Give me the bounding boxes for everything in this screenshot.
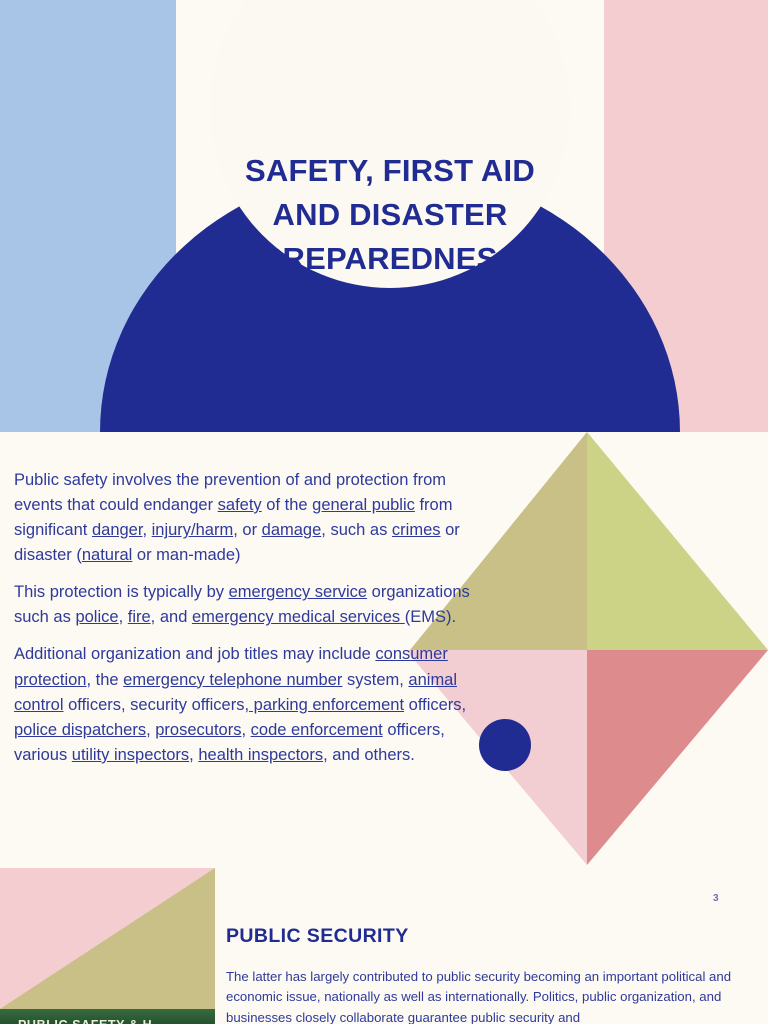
body-link[interactable]: emergency medical services <box>192 608 405 626</box>
body-link[interactable]: code enforcement <box>251 721 383 739</box>
page-number: 3 <box>713 893 719 904</box>
body-link[interactable]: danger <box>92 521 142 539</box>
body-slide: Public safety involves the prevention of… <box>0 432 768 865</box>
decorative-footer-band: PUBLIC SAFETY & H <box>0 1009 215 1024</box>
body-link[interactable]: health inspectors <box>198 746 323 764</box>
body-paragraph: Public safety involves the prevention of… <box>14 468 492 568</box>
decorative-square-split <box>0 868 215 1009</box>
public-security-slide: PUBLIC SAFETY & H PUBLIC SECURITY The la… <box>0 865 768 1024</box>
page-title-line-1: SAFETY, FIRST AID <box>245 153 535 188</box>
body-text-run: , <box>142 521 151 539</box>
body-paragraph: This protection is typically by emergenc… <box>14 580 492 630</box>
body-link[interactable]: utility inspectors <box>72 746 189 764</box>
body-text-run: This protection is typically by <box>14 583 229 601</box>
section-paragraph: The latter has largely contributed to pu… <box>226 967 754 1024</box>
body-text-run: , <box>119 608 128 626</box>
body-text-run: Additional organization and job titles m… <box>14 645 375 663</box>
hero-slide: SAFETY, FIRST AID AND DISASTER PREPAREDN… <box>0 0 768 432</box>
body-text-run: system, <box>342 671 408 689</box>
body-text-run: of the <box>262 496 312 514</box>
body-text-run: (EMS). <box>405 608 456 626</box>
body-text-run: , such as <box>321 521 392 539</box>
body-link[interactable]: emergency telephone number <box>123 671 342 689</box>
body-link[interactable]: emergency service <box>229 583 367 601</box>
body-link[interactable]: crimes <box>392 521 441 539</box>
body-text-run: or man-made) <box>132 546 240 564</box>
body-link[interactable]: prosecutors <box>155 721 241 739</box>
page-title: SAFETY, FIRST AID AND DISASTER PREPAREDN… <box>184 149 596 281</box>
body-text-block: Public safety involves the prevention of… <box>14 468 492 780</box>
body-link[interactable]: safety <box>218 496 262 514</box>
body-text-run: , or <box>233 521 261 539</box>
body-link[interactable]: injury/harm <box>152 521 234 539</box>
page-title-line-2: AND DISASTER <box>273 197 508 232</box>
footer-band-label: PUBLIC SAFETY & H <box>18 1018 152 1024</box>
section-body-text: The latter has largely contributed to pu… <box>226 967 754 1024</box>
body-link[interactable]: natural <box>82 546 132 564</box>
body-link[interactable]: general public <box>312 496 415 514</box>
body-link[interactable]: fire <box>128 608 151 626</box>
body-text-run: officers, security officers <box>64 696 245 714</box>
page-title-line-3: PREPAREDNESS <box>262 241 519 276</box>
decorative-triangle-salmon <box>587 650 768 865</box>
body-text-run: , the <box>86 671 123 689</box>
body-text-run: , and others. <box>323 746 415 764</box>
body-text-run: , <box>189 746 198 764</box>
body-link[interactable]: damage <box>262 521 322 539</box>
body-text-run: officers, <box>404 696 466 714</box>
body-text-run: , and <box>151 608 192 626</box>
body-text-run: , <box>241 721 250 739</box>
body-link[interactable]: police dispatchers <box>14 721 146 739</box>
section-heading: PUBLIC SECURITY <box>226 925 409 948</box>
body-link[interactable]: police <box>75 608 118 626</box>
body-text-run: , <box>146 721 155 739</box>
body-link[interactable]: , parking enforcement <box>244 696 404 714</box>
body-paragraph: Additional organization and job titles m… <box>14 642 492 767</box>
decorative-triangle-yellow-green <box>587 432 768 650</box>
